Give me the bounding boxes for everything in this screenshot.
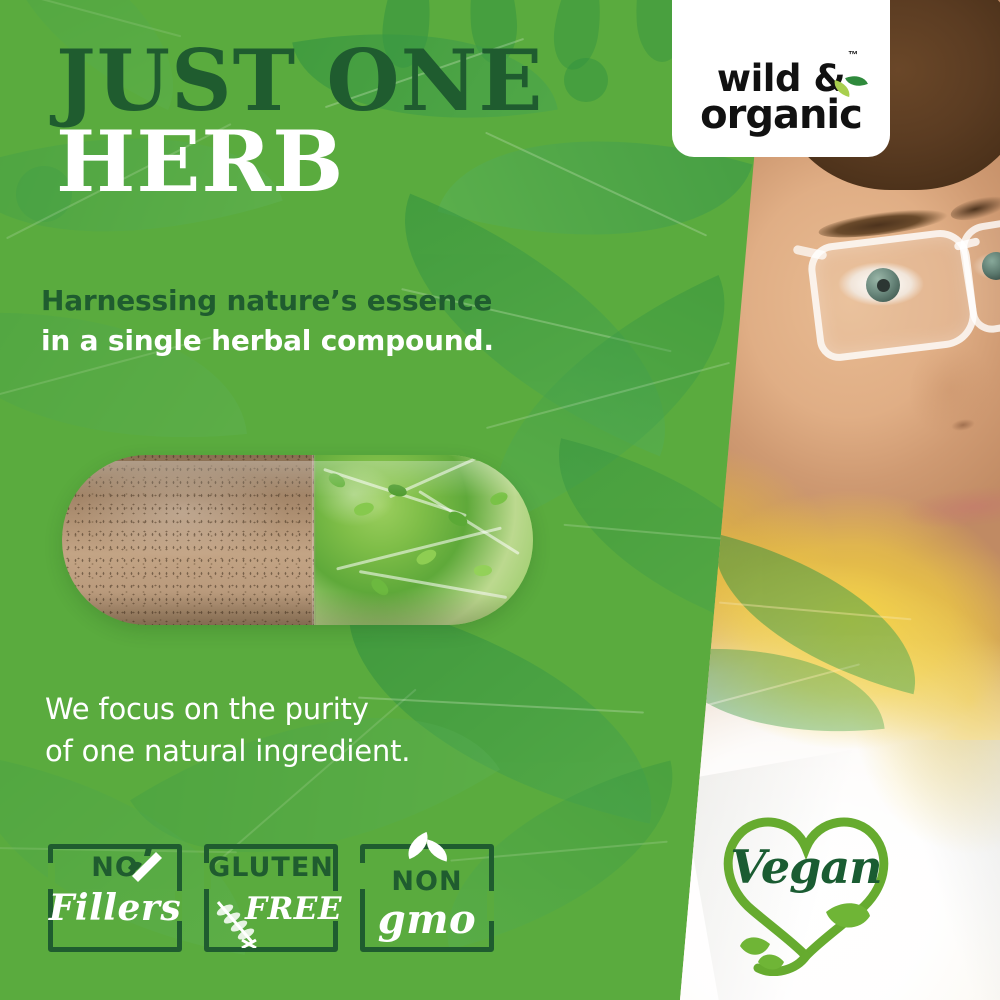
badge-label-top: NON [356,868,498,895]
claim-badges: NO Fillers GLUTEN FREE NON [44,838,498,954]
page-title: JUST ONE HERB [56,42,576,205]
fern-frond [389,455,509,498]
vegan-badge: Vegan [700,800,912,976]
body-copy-line-2: of one natural ingredient. [45,730,525,772]
body-copy-line-1: We focus on the purity [45,688,525,730]
headline-line-2: HERB [56,119,576,205]
product-marketing-poster: wild & ™ organic JUST ONE HERB Harnessin… [0,0,1000,1000]
fern-pinna [353,500,376,518]
logo-leaves-icon [833,74,867,104]
leaf-dark-icon [845,71,868,91]
badge-label-top: GLUTEN [200,854,342,881]
brand-logo[interactable]: wild & ™ organic [672,0,890,157]
fern-pinna [368,576,391,598]
capsule-product-image [62,455,533,625]
badge-label-bottom: gmo [356,900,498,940]
leaf-right-icon [423,839,450,861]
subtitle: Harnessing nature’s essence in a single … [41,281,561,361]
badge-non-gmo: NON gmo [356,838,498,954]
scoop-icon [126,846,170,886]
wheat-icon [212,896,262,948]
two-leaves-icon [405,832,451,864]
capsule-seam [312,455,316,625]
fern-pinna [488,489,509,507]
body-copy: We focus on the purity of one natural in… [45,688,525,772]
capsule-powder-half [62,455,314,625]
trademark-symbol: ™ [848,50,858,61]
badge-label-bottom: Fillers [44,890,186,926]
capsule-herb-half [314,455,533,625]
logo-wordmark-wild: wild & [717,60,845,97]
headline-line-1: JUST ONE [56,42,576,119]
badge-gluten-free: GLUTEN FREE [200,838,342,954]
fern-pinna [446,509,469,528]
logo-line-1-row: wild & ™ [717,60,845,97]
subtitle-line-1: Harnessing nature’s essence [41,281,561,321]
vegan-label: Vegan [700,844,912,890]
fern-pinna [473,564,492,577]
badge-no-fillers: NO Fillers [44,838,186,954]
subtitle-line-2: in a single herbal compound. [41,321,561,361]
